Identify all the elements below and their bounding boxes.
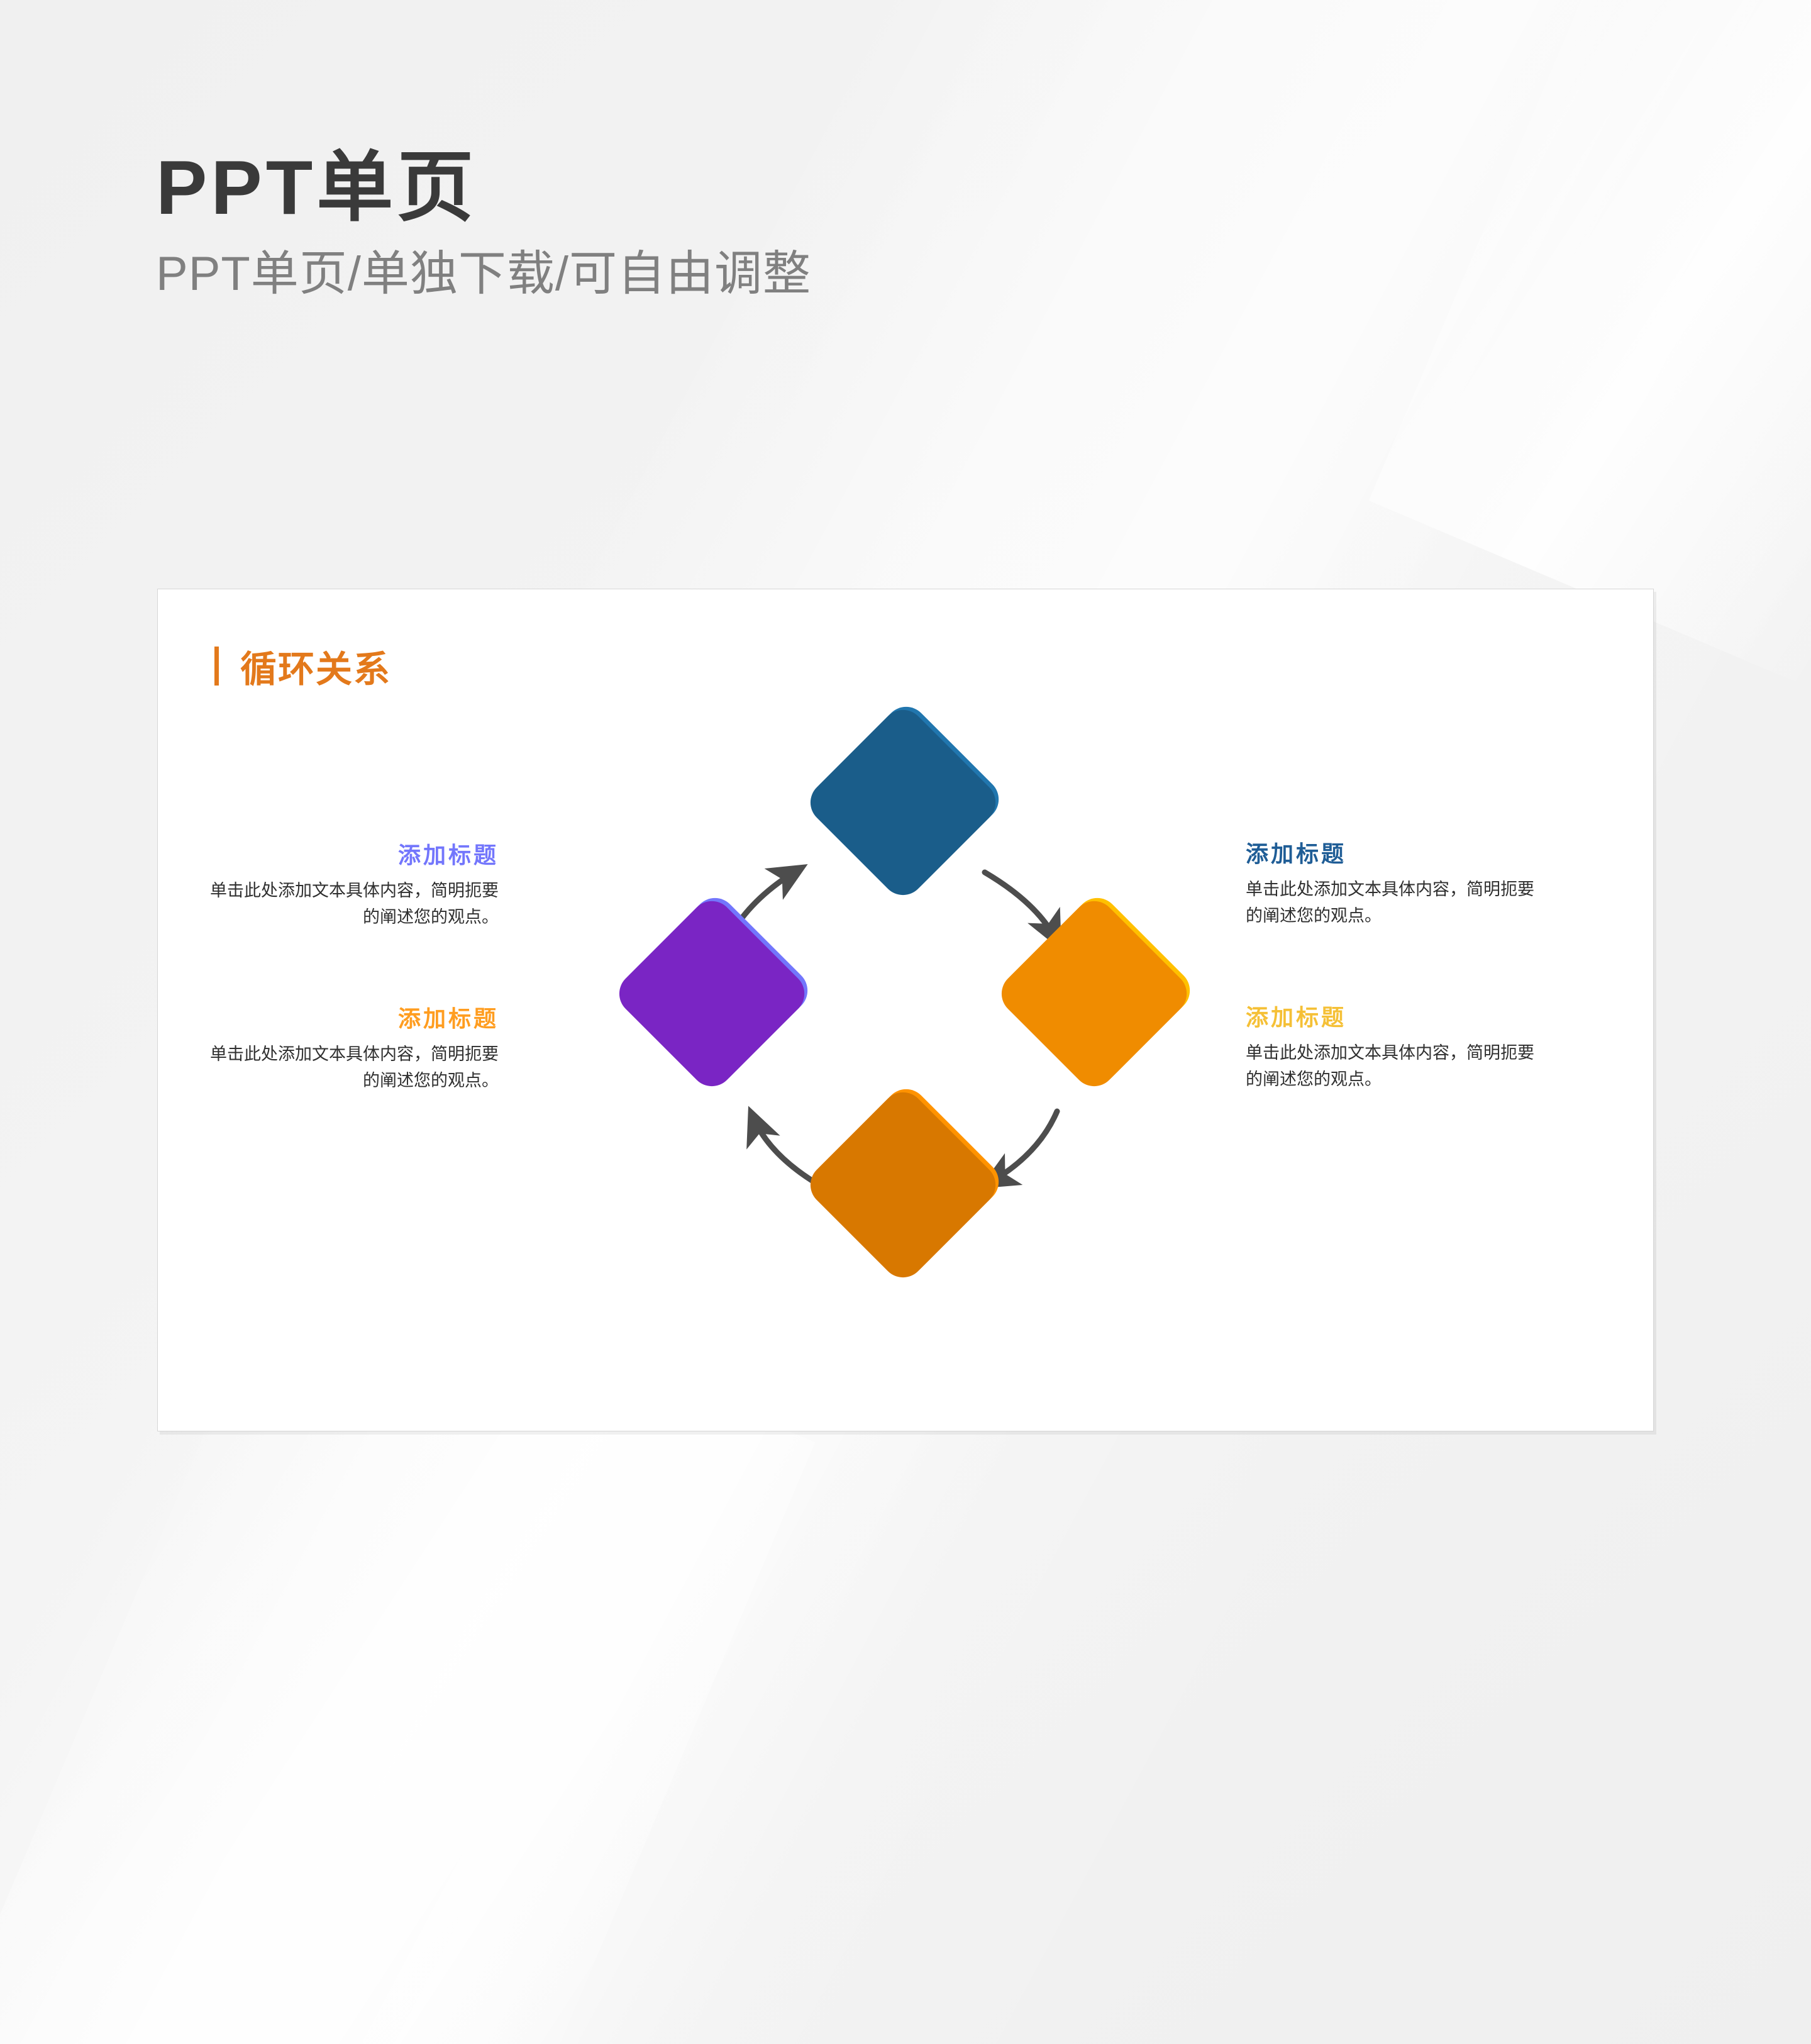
text-block-title: 添加标题 — [1246, 1003, 1541, 1033]
page-title: PPT单页 — [156, 143, 811, 231]
text-block-body: 单击此处添加文本具体内容，简明扼要的阐述您的观点。 — [203, 1041, 499, 1094]
slide-heading-label: 循环关系 — [240, 640, 391, 692]
text-block-body: 单击此处添加文本具体内容，简明扼要的阐述您的观点。 — [1246, 1040, 1541, 1093]
text-block-body: 单击此处添加文本具体内容，简明扼要的阐述您的观点。 — [1246, 877, 1541, 930]
slide-heading: 循环关系 — [214, 640, 391, 692]
page-header: PPT单页 PPT单页/单独下载/可自由调整 — [156, 143, 811, 303]
heading-accent-bar — [214, 647, 219, 686]
text-block-right-top[interactable]: 添加标题 单击此处添加文本具体内容，简明扼要的阐述您的观点。 — [1246, 840, 1541, 929]
text-block-left-top[interactable]: 添加标题 单击此处添加文本具体内容，简明扼要的阐述您的观点。 — [203, 841, 499, 930]
page-subtitle: PPT单页/单独下载/可自由调整 — [156, 245, 811, 303]
text-block-title: 添加标题 — [203, 1004, 499, 1034]
text-block-body: 单击此处添加文本具体内容，简明扼要的阐述您的观点。 — [203, 878, 499, 931]
text-block-title: 添加标题 — [1246, 840, 1541, 869]
cycle-diagram — [623, 715, 1189, 1281]
text-block-left-bottom[interactable]: 添加标题 单击此处添加文本具体内容，简明扼要的阐述您的观点。 — [203, 1004, 499, 1094]
arrow-right-to-bottom — [988, 1111, 1057, 1184]
page-root: PPT单页 PPT单页/单独下载/可自由调整 循环关系 添加标题 单击此处添加文… — [0, 0, 1811, 2044]
slide-card[interactable]: 循环关系 添加标题 单击此处添加文本具体内容，简明扼要的阐述您的观点。 添加标题… — [157, 589, 1654, 1431]
background-sheen-top-right — [1369, 0, 1811, 687]
arrow-top-to-right — [985, 872, 1057, 941]
text-block-title: 添加标题 — [203, 841, 499, 870]
text-block-right-bottom[interactable]: 添加标题 单击此处添加文本具体内容，简明扼要的阐述您的观点。 — [1246, 1003, 1541, 1092]
